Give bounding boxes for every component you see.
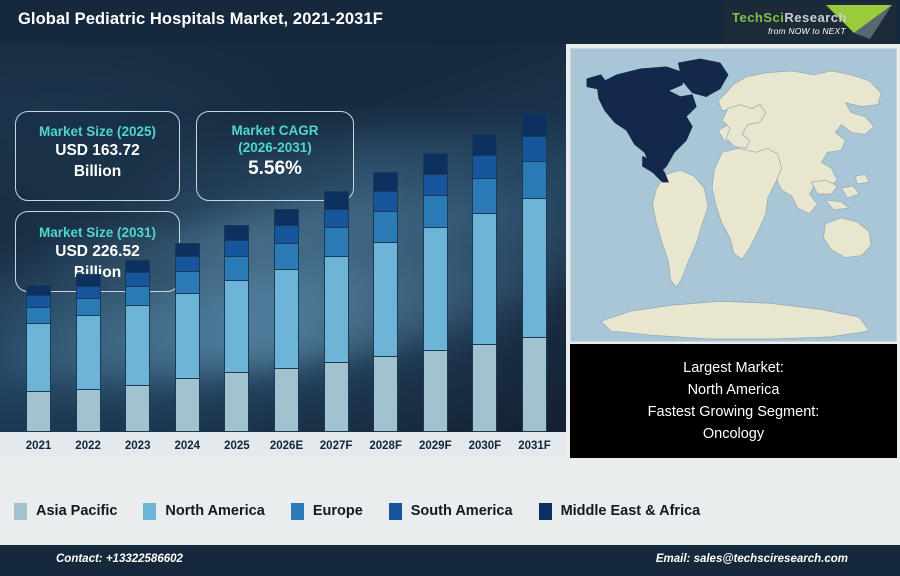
- bar-segment-middle-east-africa: [125, 260, 150, 272]
- world-map: [570, 48, 897, 342]
- infographic-page: Global Pediatric Hospitals Market, 2021-…: [0, 0, 900, 576]
- bar-segment-europe: [423, 195, 448, 227]
- legend-item-middle-east-africa: Middle East & Africa: [539, 503, 701, 520]
- largest-market-value: North America: [688, 379, 780, 401]
- bar-segment-north-america: [522, 198, 547, 337]
- bar-segment-middle-east-africa: [324, 191, 349, 209]
- legend-swatch-icon: [14, 503, 27, 520]
- bar-2025: [224, 225, 249, 432]
- bar-segment-middle-east-africa: [373, 172, 398, 191]
- bar-segment-europe: [373, 211, 398, 241]
- stacked-bar-chart: 202120222023202420252026E2027F2028F2029F…: [0, 44, 566, 456]
- bar-segment-south-america: [76, 286, 101, 298]
- logo-wordmark: TechSciResearch: [732, 10, 847, 25]
- bar-segment-middle-east-africa: [224, 225, 249, 240]
- email-text: Email: sales@techsciresearch.com: [656, 553, 848, 565]
- bar-segment-asia-pacific: [224, 372, 249, 432]
- bar-segment-middle-east-africa: [175, 243, 200, 256]
- x-axis-label-2023: 2023: [112, 440, 164, 452]
- bar-segment-europe: [274, 243, 299, 269]
- x-axis-label-2024: 2024: [161, 440, 213, 452]
- bar-segment-asia-pacific: [522, 337, 547, 432]
- bar-segment-south-america: [423, 174, 448, 196]
- bar-segment-middle-east-africa: [76, 274, 101, 285]
- x-axis-label-2025: 2025: [211, 440, 263, 452]
- bar-segment-south-america: [224, 240, 249, 256]
- bar-segment-south-america: [373, 191, 398, 211]
- legend-label: Middle East & Africa: [561, 503, 701, 519]
- world-map-svg: [571, 49, 896, 341]
- logo-name-part1: TechSci: [732, 10, 784, 25]
- bar-segment-middle-east-africa: [274, 209, 299, 225]
- bar-segment-north-america: [76, 315, 101, 389]
- x-axis-label-2026E: 2026E: [261, 440, 313, 452]
- bar-2024: [175, 243, 200, 432]
- bar-2031F: [522, 113, 547, 432]
- bar-2026E: [274, 209, 299, 432]
- bar-segment-europe: [472, 178, 497, 212]
- chart-panel: Market Size (2025) USD 163.72 Billion Ma…: [0, 44, 566, 456]
- bar-segment-asia-pacific: [274, 368, 299, 432]
- bar-segment-south-america: [175, 256, 200, 271]
- bar-2028F: [373, 172, 398, 432]
- legend-label: Asia Pacific: [36, 503, 117, 519]
- bar-segment-europe: [324, 227, 349, 255]
- bar-segment-asia-pacific: [175, 378, 200, 432]
- bar-2023: [125, 260, 150, 432]
- legend-label: Europe: [313, 503, 363, 519]
- bar-2021: [26, 285, 51, 432]
- bar-segment-south-america: [324, 209, 349, 228]
- bar-segment-europe: [26, 307, 51, 323]
- bar-segment-south-america: [472, 155, 497, 178]
- bar-segment-north-america: [472, 213, 497, 344]
- x-axis-label-2031F: 2031F: [509, 440, 561, 452]
- legend-swatch-icon: [291, 503, 304, 520]
- bar-segment-asia-pacific: [373, 356, 398, 432]
- footer-bar: Contact: +13322586602 Email: sales@techs…: [0, 545, 900, 576]
- x-axis-label-2030F: 2030F: [459, 440, 511, 452]
- bar-2030F: [472, 134, 497, 432]
- legend-item-europe: Europe: [291, 503, 363, 520]
- bar-segment-europe: [175, 271, 200, 293]
- page-title: Global Pediatric Hospitals Market, 2021-…: [18, 10, 383, 29]
- legend-label: North America: [165, 503, 264, 519]
- legend-item-asia-pacific: Asia Pacific: [14, 503, 117, 520]
- bar-segment-middle-east-africa: [522, 113, 547, 136]
- bar-segment-europe: [125, 286, 150, 306]
- bar-segment-asia-pacific: [125, 385, 150, 432]
- bar-segment-europe: [224, 256, 249, 280]
- bar-segment-asia-pacific: [324, 362, 349, 432]
- bar-segment-asia-pacific: [26, 391, 51, 432]
- techsci-research-logo: TechSciResearch from NOW to NEXT: [724, 2, 896, 42]
- bar-segment-middle-east-africa: [423, 153, 448, 173]
- logo-name-part2: Research: [784, 10, 847, 25]
- bar-segment-north-america: [274, 269, 299, 368]
- contact-text: Contact: +13322586602: [56, 553, 183, 565]
- bar-segment-south-america: [26, 295, 51, 306]
- x-axis-label-2029F: 2029F: [409, 440, 461, 452]
- fastest-segment-label: Fastest Growing Segment:: [648, 401, 820, 423]
- x-axis-label-2028F: 2028F: [360, 440, 412, 452]
- legend-swatch-icon: [389, 503, 402, 520]
- bar-segment-north-america: [324, 256, 349, 362]
- bar-2029F: [423, 153, 448, 432]
- bar-segment-south-america: [125, 272, 150, 285]
- legend-label: South America: [411, 503, 513, 519]
- chart-legend: Asia PacificNorth AmericaEuropeSouth Ame…: [0, 490, 900, 532]
- largest-market-label: Largest Market:: [683, 357, 784, 379]
- header-bar: Global Pediatric Hospitals Market, 2021-…: [0, 0, 900, 44]
- x-axis-label-2021: 2021: [13, 440, 65, 452]
- legend-item-north-america: North America: [143, 503, 264, 520]
- bar-segment-asia-pacific: [423, 350, 448, 432]
- legend-item-south-america: South America: [389, 503, 513, 520]
- bar-segment-asia-pacific: [472, 344, 497, 432]
- bar-segment-north-america: [373, 242, 398, 356]
- bar-segment-europe: [76, 298, 101, 316]
- bar-segment-asia-pacific: [76, 389, 101, 432]
- bar-segment-south-america: [522, 136, 547, 161]
- bar-segment-europe: [522, 161, 547, 198]
- bar-segment-north-america: [26, 323, 51, 392]
- bar-segment-north-america: [125, 305, 150, 385]
- fastest-segment-value: Oncology: [703, 423, 764, 445]
- bar-segment-north-america: [423, 227, 448, 350]
- x-axis-label-2022: 2022: [62, 440, 114, 452]
- logo-tagline: from NOW to NEXT: [768, 26, 846, 36]
- bar-segment-north-america: [175, 293, 200, 378]
- bar-segment-middle-east-africa: [472, 134, 497, 156]
- bar-segment-south-america: [274, 225, 299, 243]
- bar-segment-middle-east-africa: [26, 285, 51, 296]
- legend-swatch-icon: [539, 503, 552, 520]
- bar-2027F: [324, 191, 349, 432]
- bar-segment-north-america: [224, 280, 249, 372]
- legend-swatch-icon: [143, 503, 156, 520]
- x-axis-label-2027F: 2027F: [310, 440, 362, 452]
- bar-2022: [76, 274, 101, 432]
- market-highlights-box: Largest Market: North America Fastest Gr…: [570, 344, 897, 458]
